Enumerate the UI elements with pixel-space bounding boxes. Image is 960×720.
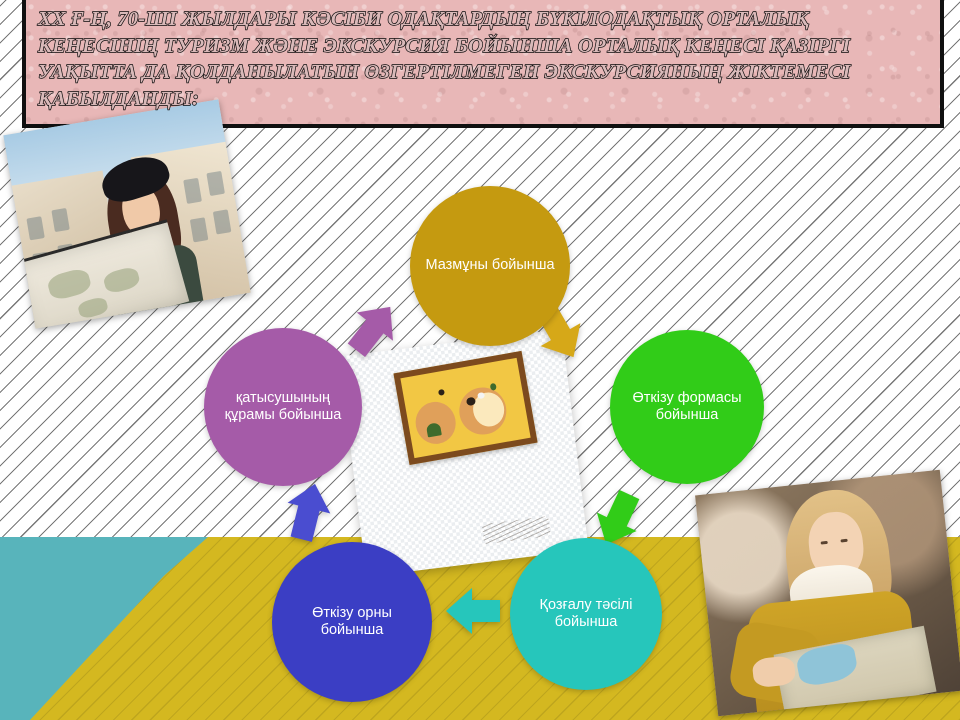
node-place-label: Өткізу орны бойынша — [286, 605, 418, 640]
illustration-signature — [482, 516, 551, 544]
photo-tourist-map-right — [695, 470, 960, 716]
title-banner: ХХ Ғ-Ң, 70-ШІ ЖЫЛДАРЫ КӘСІБИ ОДАҚТАРДЫҢ … — [22, 0, 944, 128]
arrow-movement-to-place — [442, 584, 504, 638]
node-form[interactable]: Өткізу формасы бойынша — [610, 330, 764, 484]
node-content[interactable]: Мазмұны бойынша — [410, 186, 570, 346]
node-content-label: Мазмұны бойынша — [425, 257, 554, 275]
center-illustration-card — [339, 329, 588, 577]
node-form-label: Өткізу формасы бойынша — [624, 390, 750, 425]
node-movement[interactable]: Қозғалу тәсілі бойынша — [510, 538, 662, 690]
painting-frame-icon — [393, 351, 537, 465]
node-place[interactable]: Өткізу орны бойынша — [272, 542, 432, 702]
museum-tour-illustration — [339, 329, 588, 577]
arrow-participants-to-content — [344, 298, 402, 360]
node-participants[interactable]: қатысушының құрамы бойынша — [204, 328, 362, 486]
page-title: ХХ Ғ-Ң, 70-ШІ ЖЫЛДАРЫ КӘСІБИ ОДАҚТАРДЫҢ … — [38, 6, 930, 112]
photo-tourist-map-left — [3, 99, 250, 328]
node-movement-label: Қозғалу тәсілі бойынша — [524, 597, 648, 632]
arrow-place-to-participants — [280, 480, 336, 544]
slide-canvas: ХХ Ғ-Ң, 70-ШІ ЖЫЛДАРЫ КӘСІБИ ОДАҚТАРДЫҢ … — [0, 0, 960, 720]
node-participants-label: қатысушының құрамы бойынша — [218, 390, 348, 425]
